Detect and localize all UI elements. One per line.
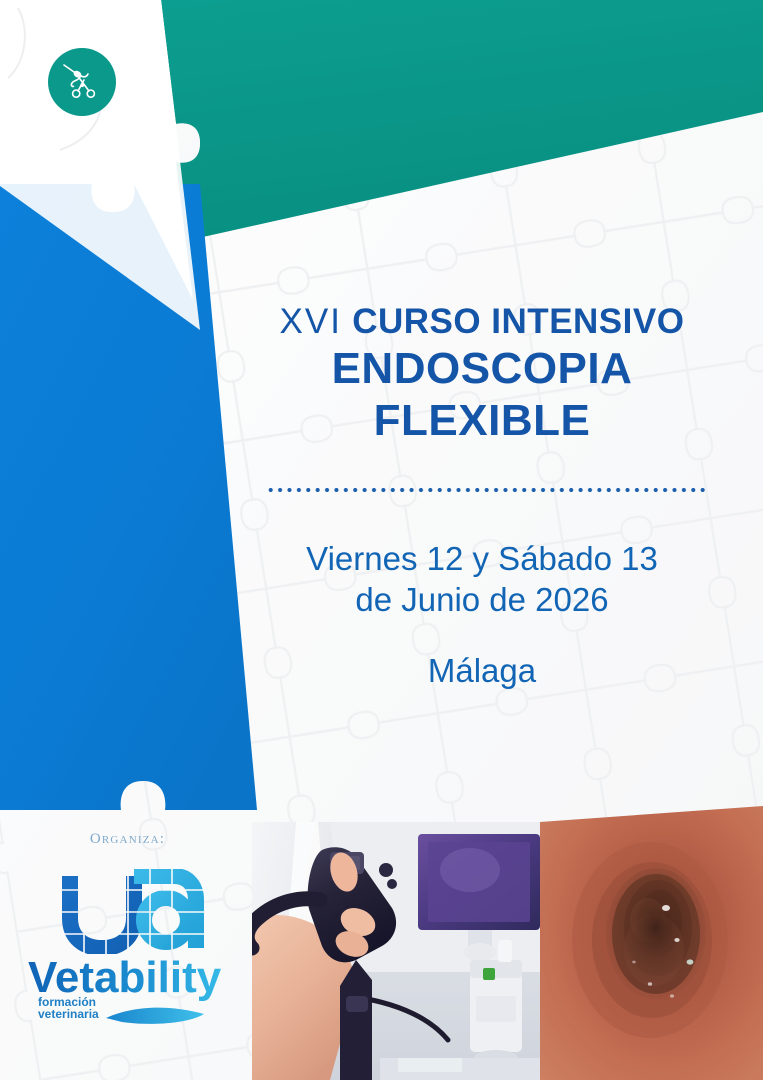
city-name: Málaga — [232, 650, 732, 691]
endoscope-handling-photo — [247, 822, 540, 1080]
edition-number: XVI — [280, 302, 342, 341]
date-block: Viernes 12 y Sábado 13 de Junio de 2026 … — [232, 538, 732, 691]
endoscopy-instrument-icon — [59, 59, 105, 105]
course-kicker: CURSO INTENSIVO — [352, 302, 684, 341]
title-line-main: ENDOSCOPIA — [232, 343, 732, 395]
title-line-kicker: XVI CURSO INTENSIVO — [232, 300, 732, 343]
title-line-sub: FLEXIBLE — [232, 395, 732, 447]
vetability-monogram-icon — [62, 868, 204, 954]
poster-canvas: XVI CURSO INTENSIVO ENDOSCOPIA FLEXIBLE … — [0, 0, 763, 1080]
date-line-1: Viernes 12 y Sábado 13 — [232, 538, 732, 579]
wordmark-swoosh — [106, 1008, 204, 1024]
title-block: XVI CURSO INTENSIVO ENDOSCOPIA FLEXIBLE — [232, 300, 732, 447]
dotted-separator — [266, 487, 706, 493]
date-line-2: de Junio de 2026 — [232, 579, 732, 620]
wordmark-tagline-2: veterinaria — [38, 1007, 99, 1021]
organizer-label: Organiza: — [0, 831, 255, 848]
endoscopy-emblem — [48, 48, 116, 116]
endoscopic-view-photo — [536, 800, 763, 1080]
vetability-wordmark: Vetability formación veterinaria — [28, 952, 240, 1026]
